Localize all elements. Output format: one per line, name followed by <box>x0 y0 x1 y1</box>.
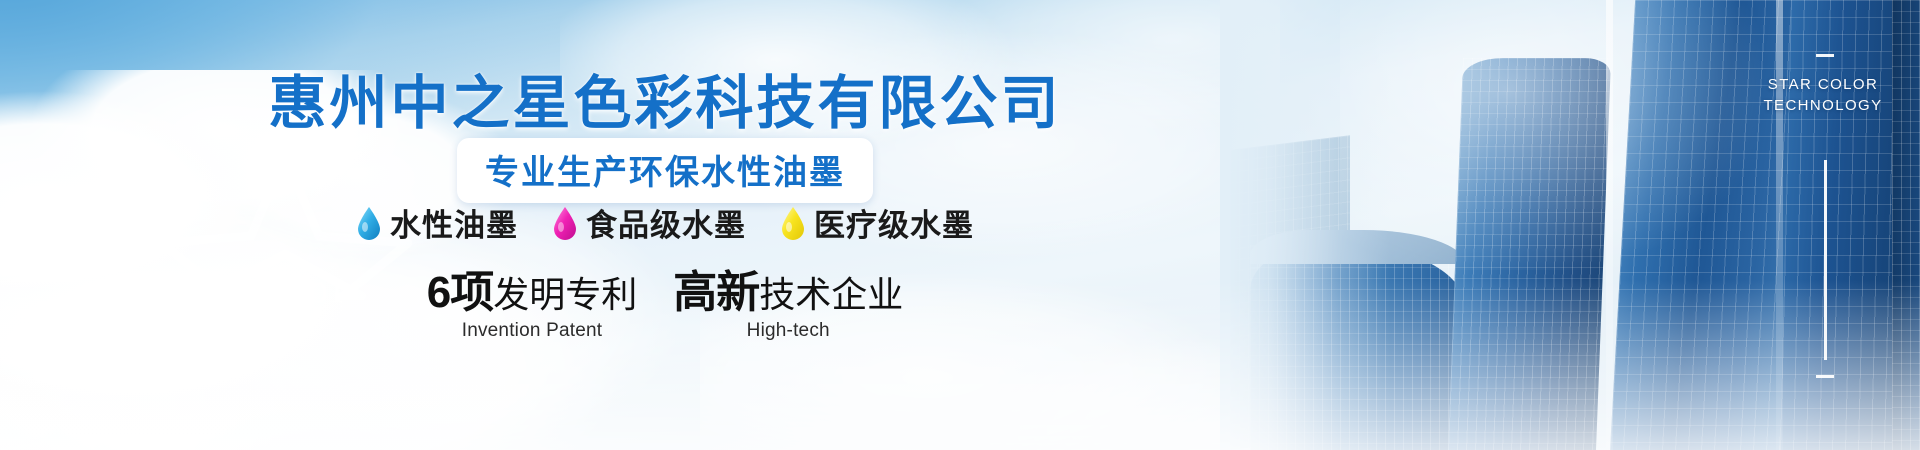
brand-label-line1: STAR COLOR <box>1748 74 1898 95</box>
feature-label: 医疗级水墨 <box>814 200 974 245</box>
subtitle-pill: 专业生产环保水性油墨 <box>457 138 873 203</box>
brand-label-line2: TECHNOLOGY <box>1748 95 1898 116</box>
water-drop-icon <box>552 206 578 240</box>
badge-strong-text: 6项 <box>427 268 493 317</box>
badge-list: 6项发明专利 Invention Patent 高新技术企业 High-tech <box>0 270 1330 342</box>
badge-english-caption: High-tech <box>673 320 903 342</box>
water-drop-icon <box>780 206 806 240</box>
feature-label: 水性油墨 <box>390 200 518 245</box>
promo-banner: STAR COLOR TECHNOLOGY Star Color 惠州中之星色彩… <box>0 0 1920 450</box>
page-title: 惠州中之星色彩科技有限公司 <box>0 56 1330 140</box>
feature-label: 食品级水墨 <box>586 200 746 245</box>
brand-tick-top <box>1816 54 1834 57</box>
badge-english-caption: Invention Patent <box>427 320 638 342</box>
badge-strong-text: 高新 <box>673 268 759 317</box>
badge-main-text: 6项发明专利 <box>427 270 638 318</box>
brand-label: STAR COLOR TECHNOLOGY <box>1748 74 1898 116</box>
feature-item-medical-grade: 医疗级水墨 <box>780 200 974 245</box>
badge-rest-text: 发明专利 <box>493 274 637 315</box>
badge-rest-text: 技术企业 <box>759 274 903 315</box>
badge-high-tech: 高新技术企业 High-tech <box>673 270 903 342</box>
feature-item-water-ink: 水性油墨 <box>356 200 518 245</box>
banner-content: 惠州中之星色彩科技有限公司 专业生产环保水性油墨 水性油 <box>0 0 1330 450</box>
badge-invention-patent: 6项发明专利 Invention Patent <box>427 270 638 342</box>
feature-item-food-grade: 食品级水墨 <box>552 200 746 245</box>
badge-main-text: 高新技术企业 <box>673 270 903 318</box>
subtitle-pill-wrap: 专业生产环保水性油墨 <box>0 138 1330 203</box>
water-drop-icon <box>356 206 382 240</box>
feature-list: 水性油墨 食品级水墨 <box>0 200 1330 245</box>
